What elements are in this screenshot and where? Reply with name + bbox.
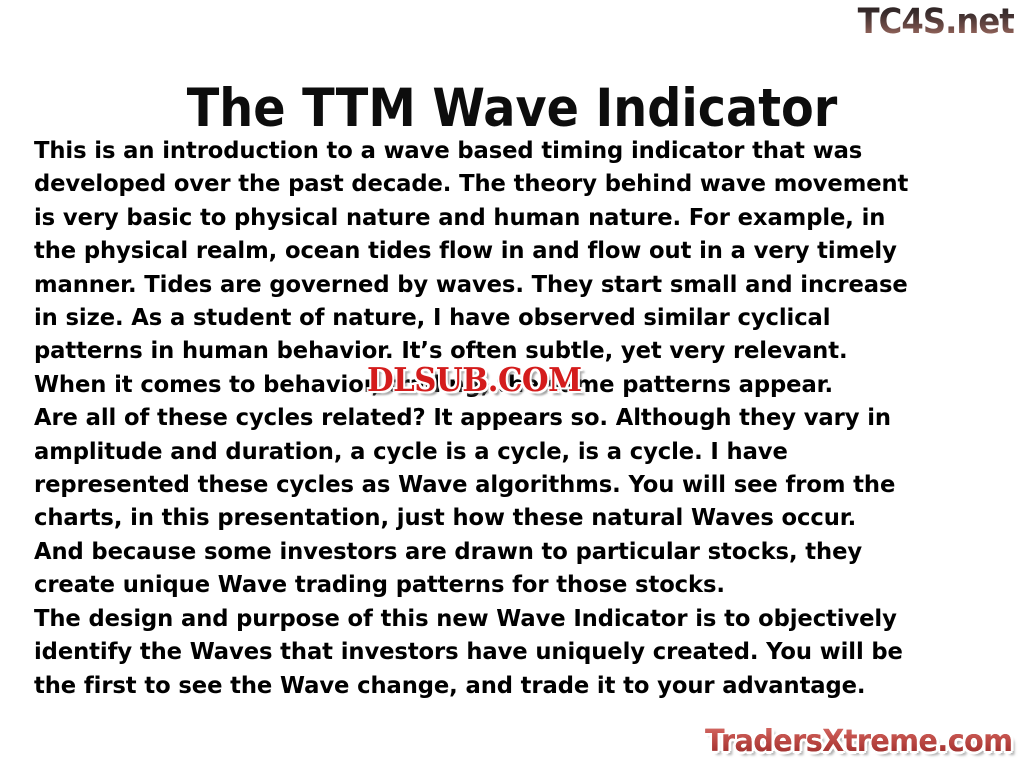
tradersxtreme-brand-logo: TradersXtreme.com TradersXtreme.com: [705, 724, 1012, 760]
body-line: charts, in this presentation, just how t…: [34, 501, 960, 534]
body-line: And because some investors are drawn to …: [34, 535, 960, 568]
body-text: This is an introduction to a wave based …: [34, 134, 960, 702]
body-line: This is an introduction to a wave based …: [34, 134, 960, 167]
body-line: Are all of these cycles related? It appe…: [34, 401, 960, 434]
body-line: the first to see the Wave change, and tr…: [34, 669, 960, 702]
body-line: represented these cycles as Wave algorit…: [34, 468, 960, 501]
tradersxtreme-fill-layer: TradersXtreme.com: [705, 724, 1012, 759]
body-line: developed over the past decade. The theo…: [34, 167, 960, 200]
dlsub-watermark: DLSUB.COM: [367, 362, 582, 398]
body-line: create unique Wave trading patterns for …: [34, 568, 960, 601]
body-line: amplitude and duration, a cycle is a cyc…: [34, 435, 960, 468]
presentation-slide: TC4S.net The TTM Wave Indicator This is …: [0, 0, 1024, 768]
page-title: The TTM Wave Indicator: [51, 78, 973, 140]
body-line: identify the Waves that investors have u…: [34, 635, 960, 668]
tc4s-brand-logo: TC4S.net: [858, 2, 1014, 42]
body-line: in size. As a student of nature, I have …: [34, 301, 960, 334]
body-line: the physical realm, ocean tides flow in …: [34, 234, 960, 267]
body-line: is very basic to physical nature and hum…: [34, 201, 960, 234]
body-line: The design and purpose of this new Wave …: [34, 602, 960, 635]
body-line: manner. Tides are governed by waves. The…: [34, 268, 960, 301]
